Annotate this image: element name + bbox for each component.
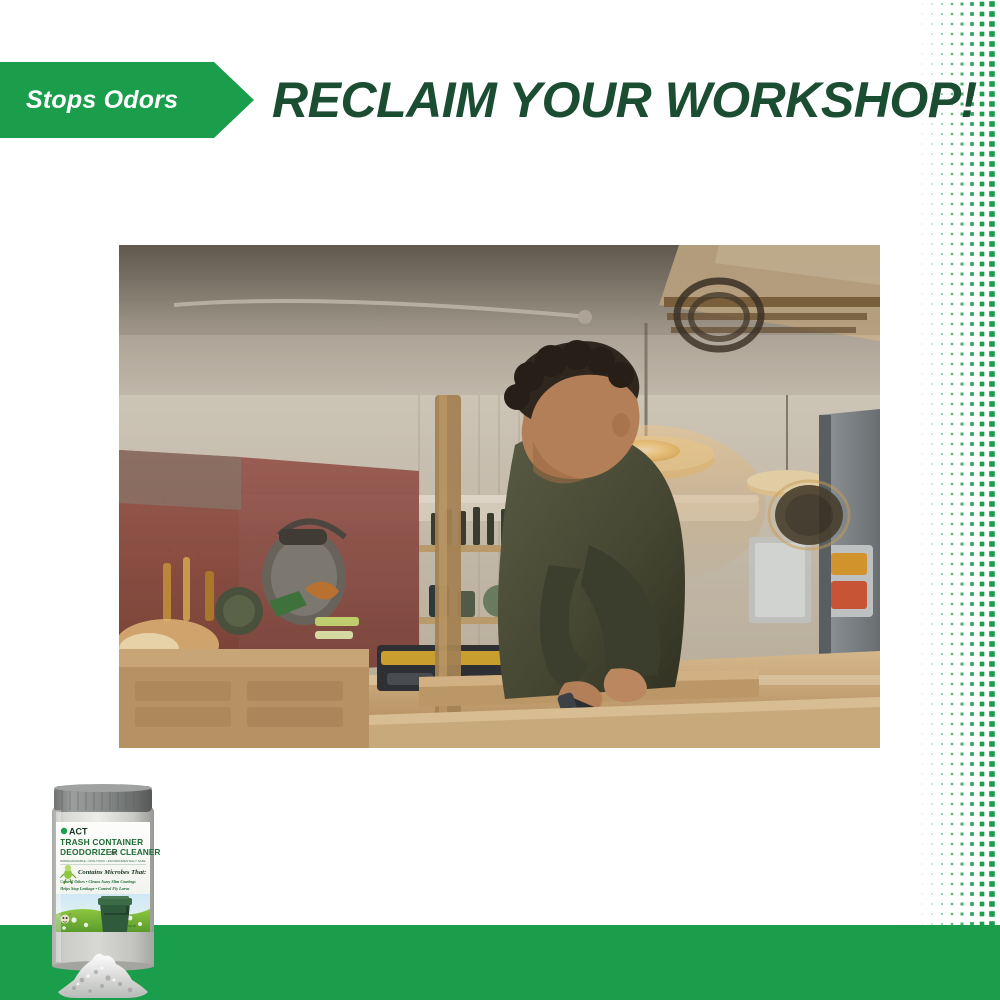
svg-text:BIODEGRADABLE • NON-TOXIC • EN: BIODEGRADABLE • NON-TOXIC • ENVIRONMENTA… (60, 859, 146, 863)
svg-text:TRASH CONTAINER: TRASH CONTAINER (60, 837, 143, 847)
hero-photo (119, 245, 880, 748)
svg-text:Control Odors • Cleans Away Sl: Control Odors • Cleans Away Slim Coating… (60, 879, 136, 884)
tagline: “Changing the way the world cleans using… (0, 0, 1000, 75)
svg-text:CLEANER: CLEANER (120, 847, 160, 857)
svg-text:Helps Stop Leakage • Control F: Helps Stop Leakage • Control Fly Larva (59, 886, 129, 891)
svg-text:'N': 'N' (110, 851, 116, 857)
act-trash-container-jar: ACT TRASH CONTAINER DEODORIZER 'N' CLEAN… (44, 782, 162, 1000)
halftone-dot-grid (880, 0, 1000, 1000)
svg-text:Net Wt.: Net Wt. (128, 924, 137, 928)
workshop-illustration (119, 245, 880, 748)
svg-text:ACT: ACT (69, 827, 88, 837)
svg-text:Contains Microbes That:: Contains Microbes That: (78, 869, 146, 876)
halftone-dot-pattern (880, 0, 1000, 1000)
product-container: ACT TRASH CONTAINER DEODORIZER 'N' CLEAN… (44, 782, 162, 1000)
